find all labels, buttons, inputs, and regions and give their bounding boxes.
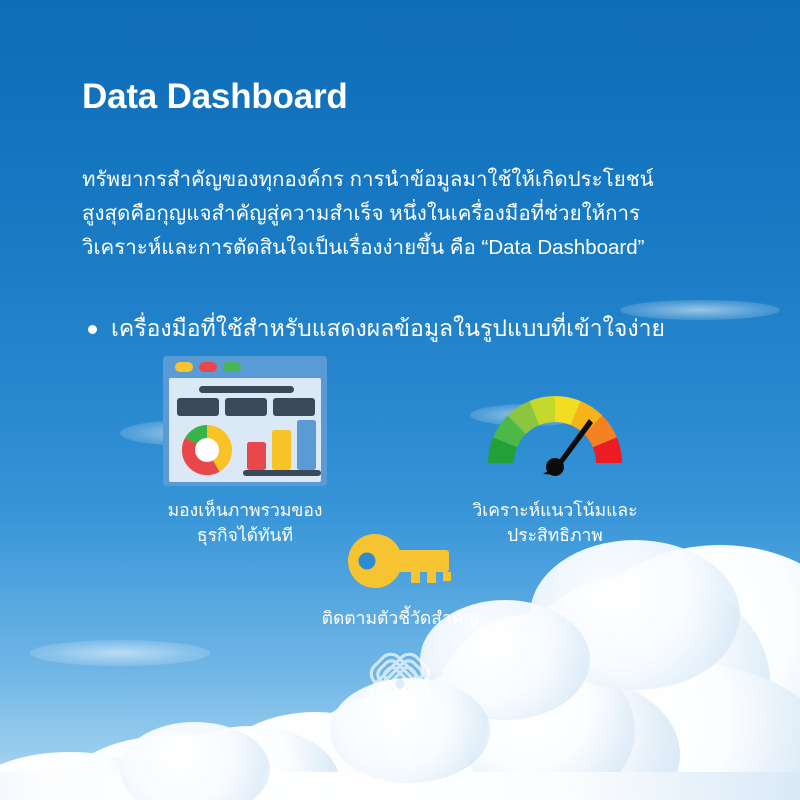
feature-trend: วิเคราะห์แนวโน้มและ ประสิทธิภาพ [420, 352, 690, 548]
page-title: Data Dashboard [82, 76, 348, 118]
intro-line-2: สูงสุดคือกุญแจสำคัญสู่ความสำเร็จ หนึ่งใน… [82, 197, 682, 231]
feature-overview-caption-line-1: มองเห็นภาพรวมของ [168, 500, 323, 520]
bullet-dot-icon [88, 325, 97, 334]
feature-kpi-caption-line-1: ติดตามตัวชี้วัดสำคัญ [322, 608, 479, 628]
gauge-meter-icon [420, 352, 690, 492]
dashboard-window-icon [110, 352, 380, 492]
intro-line-3: วิเคราะห์และการตัดสินใจเป็นเรื่องง่ายขึ้… [82, 231, 682, 265]
bullet-item: เครื่องมือที่ใช้สำหรับแสดงผลข้อมูลในรูปแ… [88, 312, 665, 344]
feature-kpi: ติดตามตัวชี้วัดสำคัญ [265, 522, 535, 631]
brand-watermark-logo [355, 648, 445, 718]
feature-overview: มองเห็นภาพรวมของ ธุรกิจได้ทันที [110, 352, 380, 548]
bullet-item-label: เครื่องมือที่ใช้สำหรับแสดงผลข้อมูลในรูปแ… [111, 312, 665, 344]
intro-line-1: ทรัพยากรสำคัญของทุกองค์กร การนำข้อมูลมาใ… [82, 163, 682, 197]
intro-paragraph: ทรัพยากรสำคัญของทุกองค์กร การนำข้อมูลมาใ… [82, 163, 682, 265]
feature-trend-caption-line-1: วิเคราะห์แนวโน้มและ [472, 500, 637, 520]
key-icon [265, 522, 535, 600]
feature-kpi-caption: ติดตามตัวชี้วัดสำคัญ [265, 606, 535, 631]
